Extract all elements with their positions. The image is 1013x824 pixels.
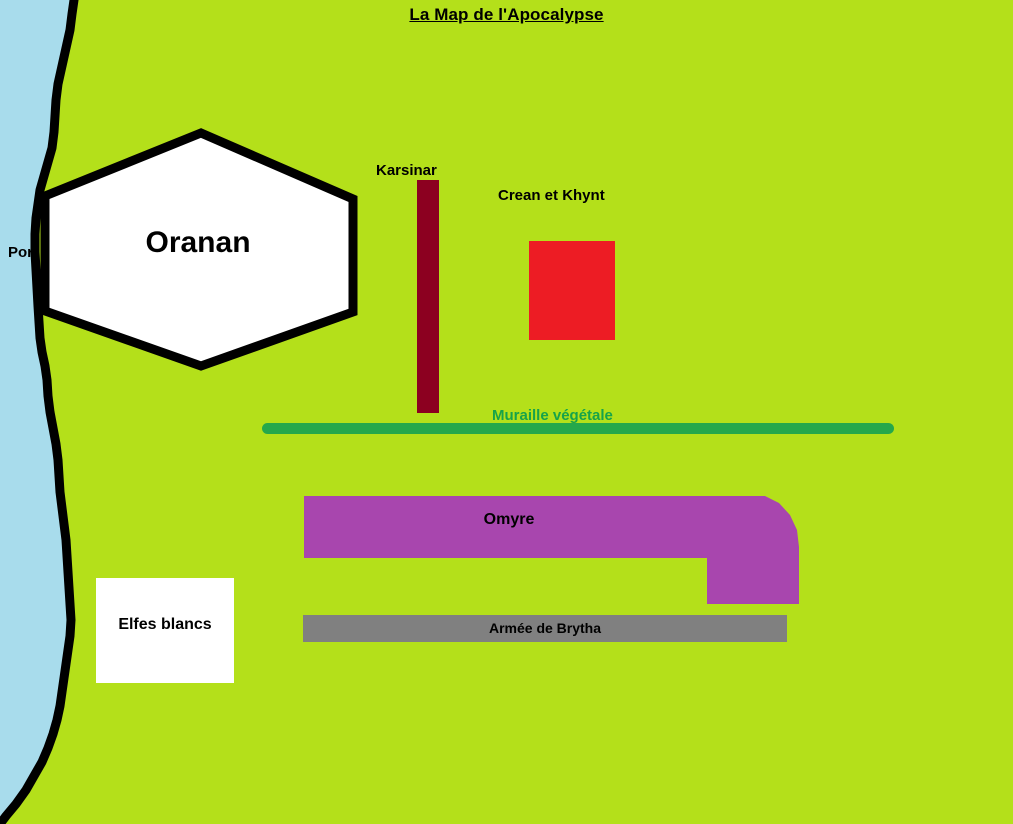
- omyre-label: Omyre: [305, 512, 713, 528]
- elfes-blancs-label: Elfes blancs: [96, 617, 234, 633]
- map-canvas: La Map de l'Apocalypse Port Oranan Karsi…: [0, 0, 1013, 824]
- muraille-vegetale-label: Muraille végétale: [492, 408, 613, 423]
- crean-et-khynt-label: Crean et Khynt: [498, 188, 605, 203]
- oranan-label: Oranan: [0, 228, 396, 258]
- karsinar-label: Karsinar: [376, 163, 437, 178]
- armee-de-brytha-label: Armée de Brytha: [303, 621, 787, 635]
- muraille-vegetale-barrier[interactable]: [262, 423, 894, 434]
- map-title: La Map de l'Apocalypse: [0, 6, 1013, 23]
- karsinar-region[interactable]: [417, 180, 439, 413]
- crean-et-khynt-region[interactable]: [529, 241, 615, 340]
